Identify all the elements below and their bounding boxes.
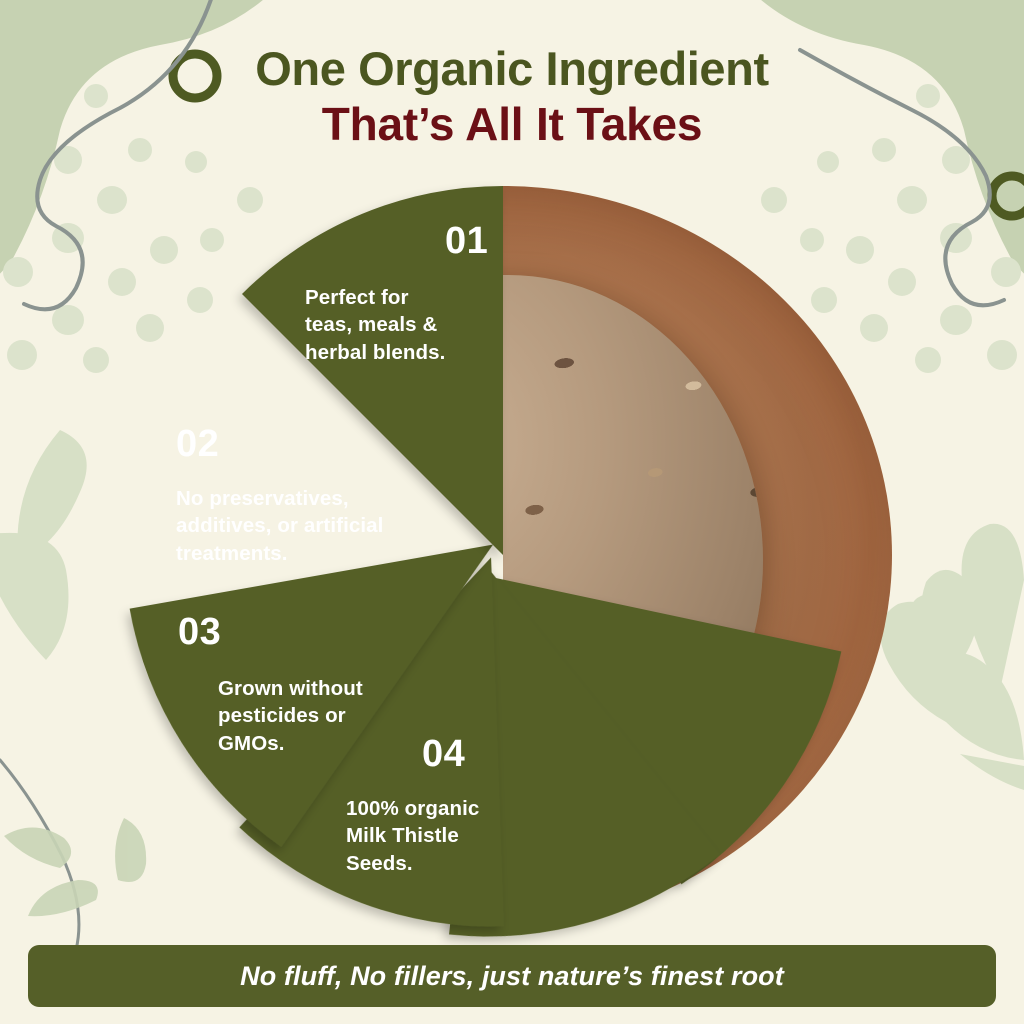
bottom-banner: No fluff, No fillers, just nature’s fine…: [28, 945, 996, 1007]
headline-line-2: That’s All It Takes: [0, 99, 1024, 151]
pie-label-01-text: Perfect for teas, meals & herbal blends.: [305, 284, 535, 366]
headline-block: One Organic Ingredient That’s All It Tak…: [0, 44, 1024, 150]
pie-label-02-text: No preservatives, additives, or artifici…: [176, 485, 446, 567]
pie-label-04: 04 100% organic Milk Thistle Seeds.: [346, 735, 561, 877]
pie-label-04-text: 100% organic Milk Thistle Seeds.: [346, 795, 561, 877]
pie-label-02-number: 02: [176, 425, 446, 463]
pie-label-02: 02 No preservatives, additives, or artif…: [176, 425, 446, 567]
pie-label-03-number: 03: [178, 613, 413, 651]
infographic-canvas: One Organic Ingredient That’s All It Tak…: [0, 0, 1024, 1024]
bottom-banner-text: No fluff, No fillers, just nature’s fine…: [240, 961, 784, 992]
pie-label-01-number: 01: [445, 222, 535, 260]
pie-label-01: 01 Perfect for teas, meals & herbal blen…: [305, 222, 535, 366]
pie-label-04-number: 04: [422, 735, 561, 773]
headline-line-1: One Organic Ingredient: [0, 44, 1024, 95]
